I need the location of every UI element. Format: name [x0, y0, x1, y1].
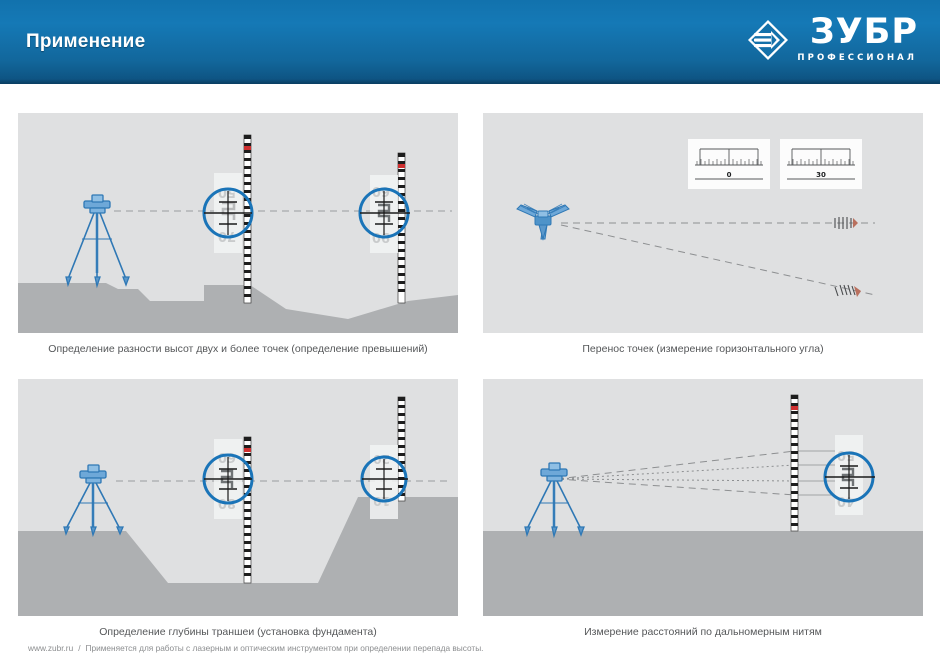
slide-root: Применение ЗУБР ПРОФЕССИОНАЛ	[0, 0, 940, 664]
angle-readout-0: 0	[688, 139, 770, 189]
page-footer: www.zubr.ru/Применяется для работы с лаз…	[28, 643, 484, 653]
panel-4-caption: Измерение расстояний по дальномерным нит…	[483, 626, 923, 638]
panel-height-difference: 50 70	[18, 113, 458, 333]
footer-separator: /	[78, 643, 80, 653]
angle-readout-30: 30	[780, 139, 862, 189]
panel-horizontal-angle: 0 30	[483, 113, 923, 333]
angle-readout-30-label: 30	[816, 171, 826, 179]
panel-1-caption: Определение разности высот двух и более …	[18, 343, 458, 355]
footer-note: Применяется для работы с лазерным и опти…	[86, 643, 484, 653]
logo-tagline: ПРОФЕССИОНАЛ	[797, 53, 917, 63]
panel-2-caption: Перенос точек (измерение горизонтального…	[483, 343, 923, 355]
leveling-staff-a	[244, 437, 251, 583]
logo-wordmark: ЗУБР	[810, 16, 918, 50]
panel-3-caption: Определение глубины траншеи (установка ф…	[18, 626, 458, 638]
page-header: Применение ЗУБР ПРОФЕССИОНАЛ	[0, 0, 940, 84]
brand-logo: ЗУБР ПРОФЕССИОНАЛ	[746, 16, 918, 72]
footer-site[interactable]: www.zubr.ru	[28, 643, 73, 653]
logo-text: ЗУБР ПРОФЕССИОНАЛ	[797, 16, 918, 63]
page-title: Применение	[26, 31, 145, 53]
zubr-mark-icon	[746, 18, 790, 62]
angle-readout-0-label: 0	[727, 171, 732, 179]
leveling-staff	[791, 395, 798, 531]
panel-trench-depth: 60 80	[18, 379, 458, 616]
panel-stadia-distance: 50 40	[483, 379, 923, 616]
ground-silhouette	[483, 531, 923, 616]
